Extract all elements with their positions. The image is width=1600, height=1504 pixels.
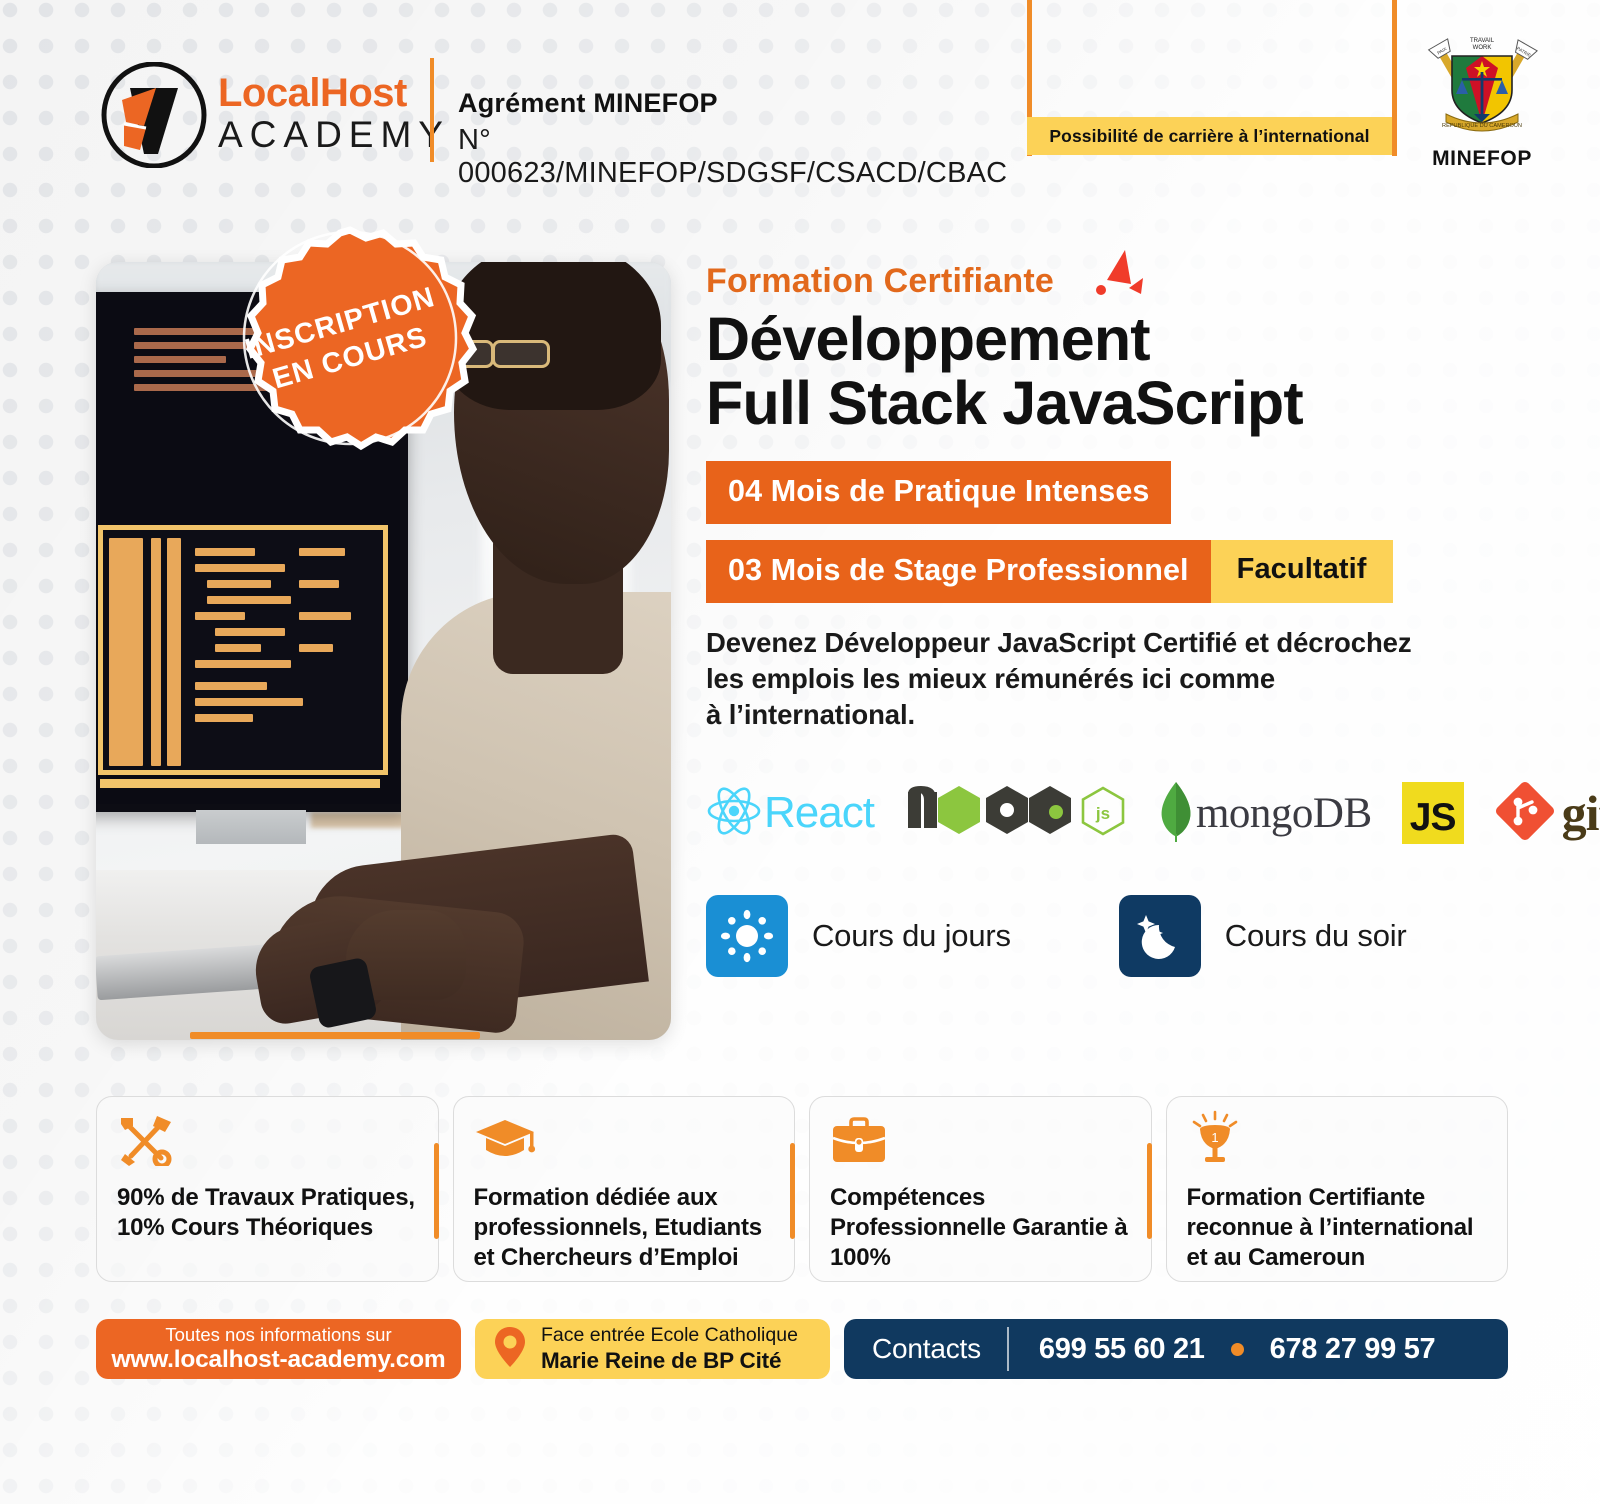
mongodb-label: mongoDB bbox=[1196, 789, 1372, 838]
graduation-cap-icon bbox=[474, 1116, 536, 1171]
tech-react: React bbox=[706, 781, 874, 845]
feature-card-audience: Formation dédiée aux professionnels, Etu… bbox=[453, 1096, 796, 1282]
schedule-day: Cours du jours bbox=[706, 895, 1011, 977]
svg-text:WORK: WORK bbox=[1473, 45, 1492, 51]
practice-duration-badge: 04 Mois de Pratique Intenses bbox=[706, 461, 1171, 524]
schedule-night: Cours du soir bbox=[1119, 895, 1407, 977]
feature-card-certification: 1 Formation Certifiante reconnue à l’int… bbox=[1166, 1096, 1509, 1282]
tech-stack-row: React bbox=[706, 781, 1546, 845]
footer: Toutes nos informations sur www.localhos… bbox=[96, 1318, 1508, 1380]
description-line-1: Devenez Développeur JavaScript Certifié … bbox=[706, 625, 1546, 661]
schedule-night-label: Cours du soir bbox=[1225, 918, 1407, 954]
brand-secondary: ACADEMY bbox=[218, 114, 450, 156]
photo-accent-line bbox=[190, 1032, 480, 1039]
header-divider-right bbox=[1392, 0, 1397, 156]
feature-card-practice-text: 90% de Travaux Pratiques, 10% Cours Théo… bbox=[117, 1183, 418, 1243]
react-icon bbox=[706, 784, 762, 843]
schedule-day-label: Cours du jours bbox=[812, 918, 1011, 954]
feature-card-practice: 90% de Travaux Pratiques, 10% Cours Théo… bbox=[96, 1096, 439, 1282]
tech-javascript: JS bbox=[1402, 781, 1464, 845]
header-divider-left bbox=[430, 58, 434, 162]
react-label: React bbox=[764, 788, 874, 838]
brand-primary: LocalHost bbox=[218, 72, 450, 114]
schedule-row: Cours du jours Cours du soir bbox=[706, 895, 1546, 977]
practice-duration-row: 04 Mois de Pratique Intenses bbox=[706, 461, 1546, 524]
feature-card-skills: Compétences Professionnelle Garantie à 1… bbox=[809, 1096, 1152, 1282]
cameroon-coat-of-arms-icon: TRAVAIL WORK PAIX PATRIE bbox=[1412, 127, 1552, 144]
phone-separator-dot bbox=[1231, 1343, 1244, 1356]
nodejs-hex-icon: js bbox=[1080, 786, 1126, 841]
briefcase-icon bbox=[830, 1116, 888, 1171]
localhost-academy-logo-icon bbox=[100, 62, 208, 168]
svg-text:js: js bbox=[1095, 804, 1110, 823]
minefop-label: MINEFOP bbox=[1412, 147, 1552, 171]
website-url: www.localhost-academy.com bbox=[111, 1348, 445, 1373]
header: LocalHost ACADEMY Agrément MINEFOP N° 00… bbox=[0, 0, 1600, 200]
tech-node: js bbox=[904, 781, 1126, 845]
minefop-badge: TRAVAIL WORK PAIX PATRIE bbox=[1412, 28, 1552, 171]
tools-icon bbox=[117, 1114, 173, 1171]
website-caption: Toutes nos informations sur bbox=[165, 1326, 391, 1345]
contacts-label: Contacts bbox=[844, 1333, 1007, 1365]
svg-text:1: 1 bbox=[1211, 1130, 1218, 1145]
feature-card-skills-text: Compétences Professionnelle Garantie à 1… bbox=[830, 1183, 1131, 1273]
sun-icon bbox=[706, 895, 788, 977]
brand-logo[interactable]: LocalHost ACADEMY bbox=[100, 62, 420, 172]
svg-text:TRAVAIL: TRAVAIL bbox=[1470, 38, 1495, 44]
moon-icon bbox=[1119, 895, 1201, 977]
feature-cards: 90% de Travaux Pratiques, 10% Cours Théo… bbox=[96, 1096, 1508, 1282]
agrement-block: Agrément MINEFOP N° 000623/MINEFOP/SDGSF… bbox=[458, 88, 1028, 190]
trophy-icon: 1 bbox=[1187, 1110, 1243, 1171]
phone-number-2[interactable]: 678 27 99 57 bbox=[1270, 1333, 1436, 1366]
international-career-banner: Possibilité de carrière à l’internationa… bbox=[1027, 117, 1392, 155]
website-pill[interactable]: Toutes nos informations sur www.localhos… bbox=[96, 1319, 461, 1379]
location-pin-icon bbox=[493, 1325, 527, 1374]
title-line-1: Développement bbox=[706, 307, 1546, 371]
svg-text:REPUBLIQUE DU CAMEROUN: REPUBLIQUE DU CAMEROUN bbox=[1442, 123, 1522, 129]
agrement-title: Agrément MINEFOP bbox=[458, 88, 1028, 119]
tech-mongodb: mongoDB bbox=[1156, 781, 1372, 845]
page-title: Développement Full Stack JavaScript bbox=[706, 307, 1546, 435]
javascript-label: JS bbox=[1410, 792, 1456, 844]
agrement-number: N° 000623/MINEFOP/SDGSF/CSACD/CBAC bbox=[458, 124, 1028, 190]
inscription-seal-badge[interactable]: INSCRIPTION EN COURS bbox=[214, 222, 486, 494]
title-line-2: Full Stack JavaScript bbox=[706, 371, 1546, 435]
location-pill[interactable]: Face entrée Ecole Catholique Marie Reine… bbox=[475, 1319, 830, 1379]
internship-duration-row: 03 Mois de Stage Professionnel Facultati… bbox=[706, 540, 1546, 603]
feature-card-certification-text: Formation Certifiante reconnue à l’inter… bbox=[1187, 1183, 1488, 1273]
optional-badge: Facultatif bbox=[1211, 540, 1393, 603]
git-label: git bbox=[1562, 784, 1600, 842]
contacts-pill[interactable]: Contacts 699 55 60 21 678 27 99 57 bbox=[844, 1319, 1508, 1379]
phone-number-1[interactable]: 699 55 60 21 bbox=[1039, 1333, 1205, 1366]
course-kicker: Formation Certifiante bbox=[706, 262, 1054, 301]
javascript-icon: JS bbox=[1402, 782, 1464, 844]
feature-card-audience-text: Formation dédiée aux professionnels, Etu… bbox=[474, 1183, 775, 1273]
mongodb-icon bbox=[1156, 780, 1196, 847]
location-caption: Face entrée Ecole Catholique bbox=[541, 1326, 798, 1346]
location-name: Marie Reine de BP Cité bbox=[541, 1350, 798, 1373]
course-description: Devenez Développeur JavaScript Certifié … bbox=[706, 625, 1546, 733]
tech-git: git bbox=[1494, 781, 1600, 845]
git-icon bbox=[1494, 780, 1556, 847]
description-line-2: les emplois les mieux rémunérés ici comm… bbox=[706, 661, 1546, 697]
node-label bbox=[904, 782, 1072, 845]
international-career-text: Possibilité de carrière à l’internationa… bbox=[1049, 126, 1369, 147]
main-content: Formation Certifiante Développement Full… bbox=[706, 262, 1546, 977]
description-line-3: à l’international. bbox=[706, 697, 1546, 733]
internship-duration-badge: 03 Mois de Stage Professionnel bbox=[706, 540, 1211, 603]
